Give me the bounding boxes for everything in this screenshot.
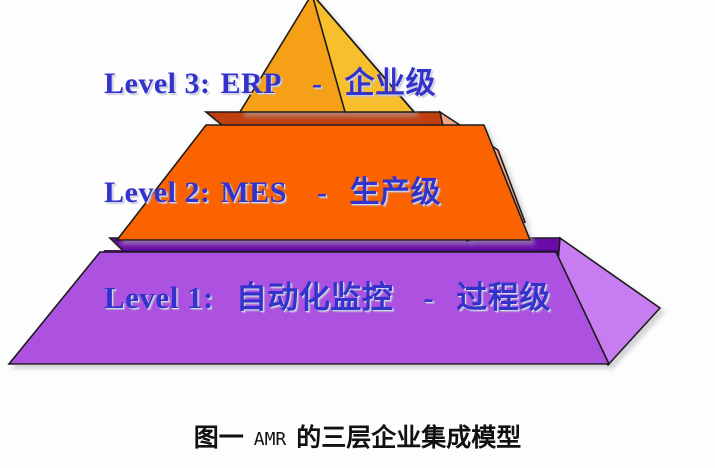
pyramid-graphic [0, 0, 715, 468]
tier-level-2-front-face [117, 125, 530, 240]
caption-description: 的三层企业集成模型 [296, 423, 521, 452]
tier-level-2 [117, 112, 530, 241]
caption-figure-number: 图一 [194, 423, 244, 452]
tier-level-1 [9, 238, 660, 365]
tier-level-1-front-face [9, 252, 609, 364]
figure-caption: 图一AMR的三层企业集成模型 [0, 418, 715, 454]
caption-acronym: AMR [254, 429, 287, 450]
diagram-canvas: Level 3:ERP-企业级 Level 2:MES-生产级 Level 1:… [0, 0, 715, 468]
tier-level-3 [240, 0, 414, 112]
